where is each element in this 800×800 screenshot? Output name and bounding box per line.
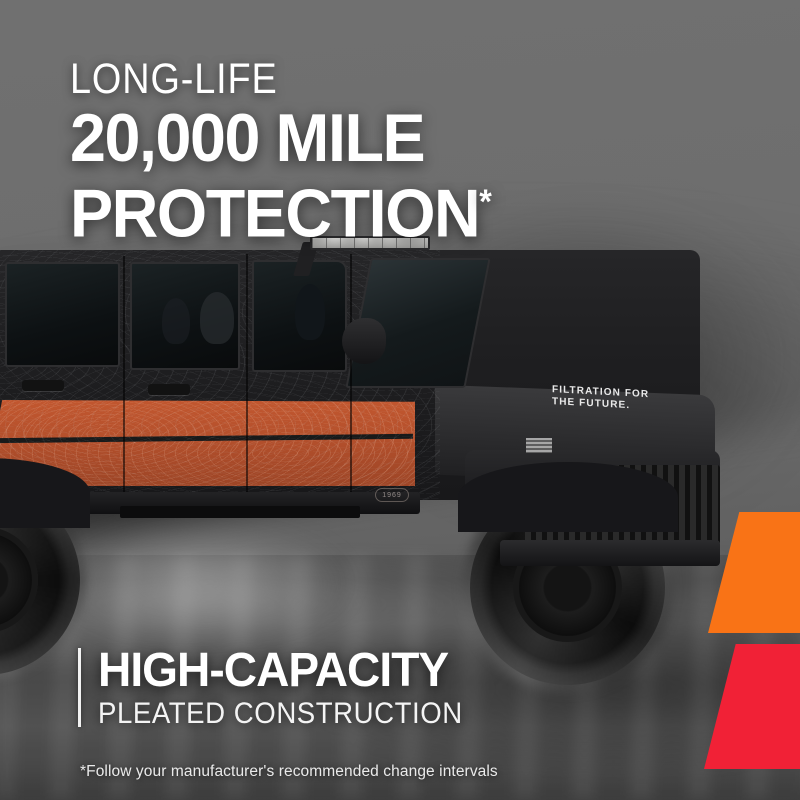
vehicle-door-seam xyxy=(246,254,248,492)
vehicle-door-seam xyxy=(350,254,352,494)
flag-decal-icon xyxy=(526,438,552,453)
subhead-block: HIGH-CAPACITY PLEATED CONSTRUCTION xyxy=(78,646,494,730)
vehicle-door-handle xyxy=(22,380,64,391)
vehicle-side-mirror xyxy=(342,318,386,364)
subhead-primary: HIGH-CAPACITY xyxy=(98,646,479,696)
headline-asterisk: * xyxy=(479,183,492,221)
vehicle-rear-quarter-window xyxy=(5,262,120,367)
vehicle-passenger-1 xyxy=(200,292,234,344)
footnote-text: *Follow your manufacturer's recommended … xyxy=(80,763,498,781)
headline-line-2: PROTECTION* xyxy=(70,169,492,247)
vehicle-driver xyxy=(295,284,325,340)
headline-line-2-text: PROTECTION xyxy=(70,176,479,252)
vehicle-passenger-2 xyxy=(162,298,190,344)
vehicle-front-wheel-arch xyxy=(458,462,678,532)
vehicle: 1969 FILTRATION FOR THE FUTURE. K&N xyxy=(0,240,780,640)
eyebrow-text: LONG-LIFE xyxy=(70,57,461,101)
advertisement-banner: 1969 FILTRATION FOR THE FUTURE. K&N LONG… xyxy=(0,0,800,800)
vehicle-door-seam xyxy=(123,256,125,492)
vehicle-front-bumper xyxy=(500,540,720,566)
headline-block: LONG-LIFE 20,000 MILE PROTECTION* xyxy=(70,57,514,247)
vertical-rule xyxy=(78,648,81,727)
subhead-secondary: PLEATED CONSTRUCTION xyxy=(98,698,463,730)
headline-line-1: 20,000 MILE xyxy=(70,105,492,171)
vehicle-door-handle xyxy=(148,384,190,395)
door-badge: 1969 xyxy=(375,488,409,502)
